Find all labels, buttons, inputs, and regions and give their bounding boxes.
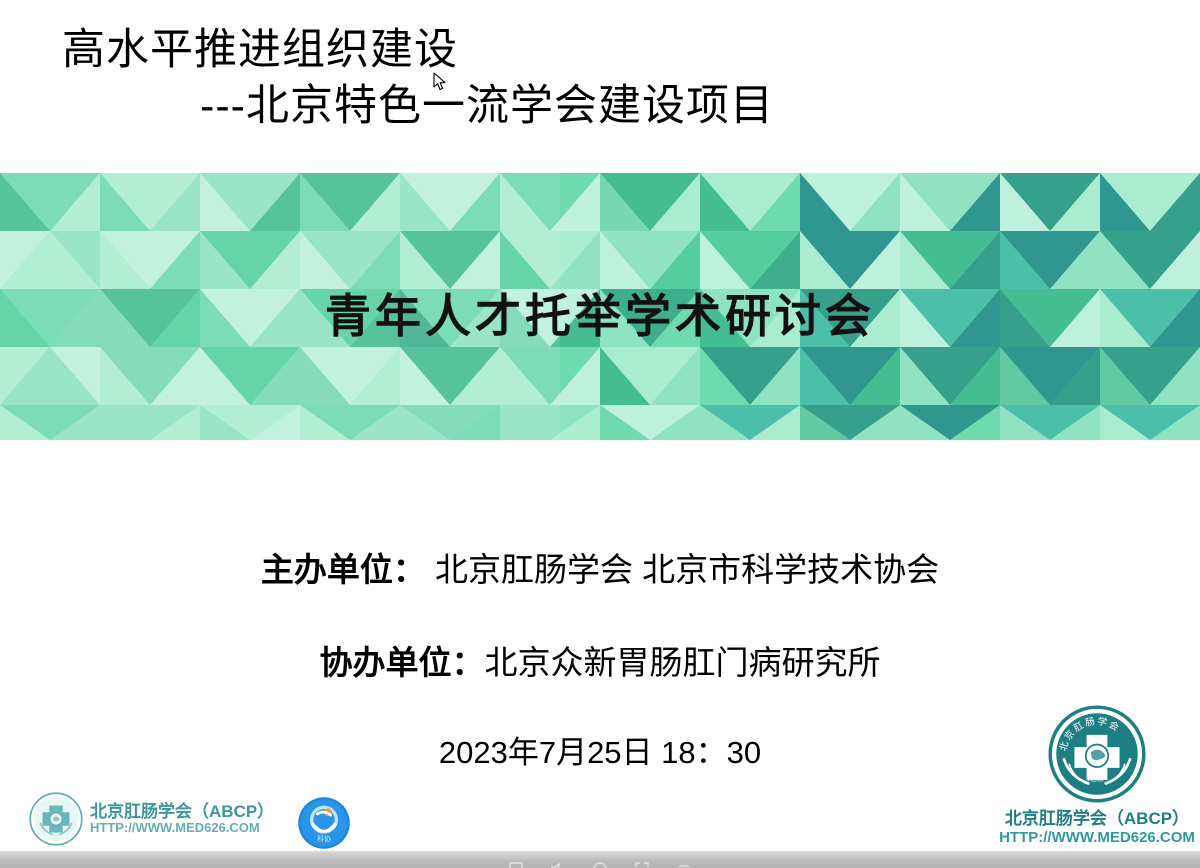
volume-icon[interactable] bbox=[550, 861, 566, 868]
abcp-name-cn: 北京肛肠学会（ABCP） bbox=[90, 803, 274, 821]
cohost-organization-line: 协办单位：北京众新胃肠肛门病研究所 bbox=[0, 636, 1200, 684]
science-association-logo: 科协 bbox=[296, 795, 352, 851]
heading-line-subtitle: ---北京特色一流学会建设项目 bbox=[0, 78, 1200, 134]
play-icon[interactable] bbox=[508, 861, 524, 868]
banner-graphic: 青年人才托举学术研讨会 bbox=[0, 173, 1200, 440]
more-options-icon[interactable] bbox=[676, 861, 692, 868]
abcp-seal-icon bbox=[28, 791, 84, 847]
host-organization-line: 主办单位： 北京肛肠学会 北京市科学技术协会 bbox=[0, 543, 1200, 591]
cohost-label: 协办单位： bbox=[320, 644, 485, 681]
svg-text:ABCP: ABCP bbox=[1088, 777, 1107, 784]
settings-icon[interactable] bbox=[592, 861, 608, 868]
heading-line-primary: 高水平推进组织建设 bbox=[0, 22, 1200, 78]
host-value: 北京肛肠学会 北京市科学技术协会 bbox=[426, 551, 939, 588]
abcp-url: HTTP://WWW.MED626.COM bbox=[90, 821, 274, 835]
video-player-toolbar[interactable] bbox=[0, 851, 1200, 868]
abcp-logo-bottom-left: 北京肛肠学会（ABCP） HTTP://WWW.MED626.COM bbox=[28, 790, 260, 848]
abcp-name-cn-large: 北京肛肠学会（ABCP） bbox=[1005, 804, 1189, 829]
player-control-group bbox=[0, 851, 1200, 868]
abcp-logo-bottom-right: 北京肛肠学会 ABCP 北京肛肠学会（ABCP） HTTP://WWW.MED6… bbox=[1002, 702, 1192, 852]
slide-heading: 高水平推进组织建设 ---北京特色一流学会建设项目 bbox=[0, 22, 1200, 134]
cohost-value: 北京众新胃肠肛门病研究所 bbox=[485, 644, 881, 681]
host-label: 主办单位： bbox=[261, 551, 426, 588]
fullscreen-icon[interactable] bbox=[634, 861, 650, 868]
abcp-seal-large-icon: 北京肛肠学会 ABCP bbox=[1045, 702, 1149, 806]
banner-title: 青年人才托举学术研讨会 bbox=[0, 179, 1200, 440]
science-association-emblem-icon: 科协 bbox=[296, 795, 352, 851]
abcp-wordmark: 北京肛肠学会（ABCP） HTTP://WWW.MED626.COM bbox=[90, 803, 274, 834]
abcp-url-large: HTTP://WWW.MED626.COM bbox=[999, 829, 1195, 846]
presentation-slide: 高水平推进组织建设 ---北京特色一流学会建设项目 bbox=[0, 0, 1200, 868]
